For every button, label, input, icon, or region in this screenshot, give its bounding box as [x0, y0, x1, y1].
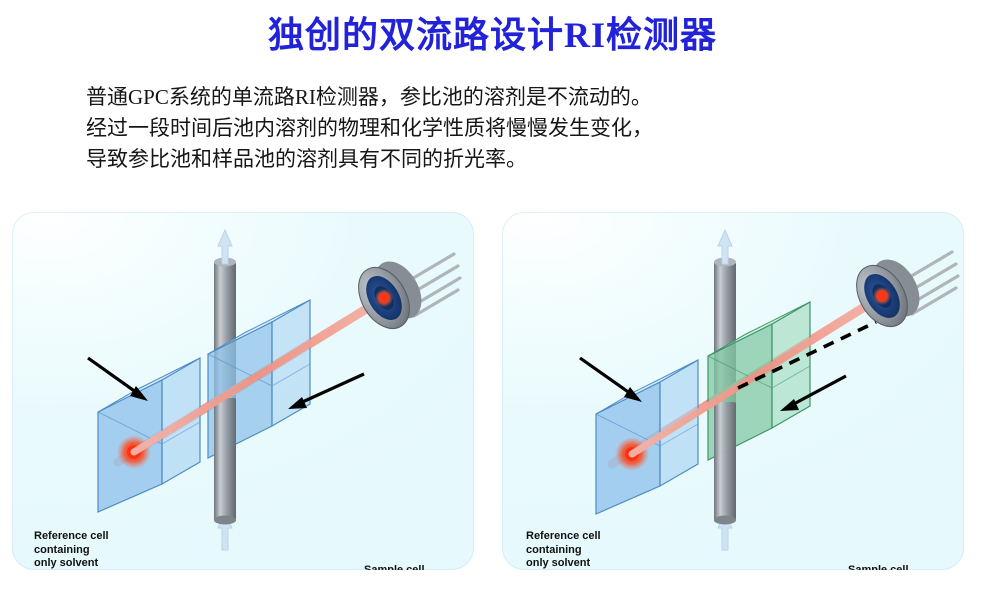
photodetector-right	[846, 251, 958, 335]
reference-cell-left	[98, 358, 200, 512]
body-paragraph: 普通GPC系统的单流路RI检测器，参比池的溶剂是不流动的。 经过一段时间后池内溶…	[86, 82, 926, 175]
label-line: only solvent	[34, 557, 109, 570]
body-line-3: 导致参比池和样品池的溶剂具有不同的折光率。	[86, 144, 926, 175]
body-line-2: 经过一段时间后池内溶剂的物理和化学性质将慢慢发生变化，	[86, 113, 926, 144]
flow-tube-front-right	[714, 402, 736, 525]
label-line: Reference cell	[526, 530, 601, 544]
label-line: Sample cell	[848, 564, 912, 570]
diagram-stage-left	[12, 212, 474, 570]
label-line: only solvent	[526, 557, 601, 570]
diagram-panel-right: Reference cell containing only solvent S…	[502, 212, 964, 570]
optical-diagram-right-svg	[502, 212, 964, 570]
label-line: Sample cell	[364, 564, 428, 570]
optical-diagram-left-svg	[12, 212, 474, 570]
callout-arrow-reference-left	[88, 358, 148, 401]
flow-tube-front-left	[214, 398, 236, 525]
reference-cell-right	[596, 360, 698, 514]
page-title: 独创的双流路设计RI检测器	[0, 6, 985, 58]
label-sample-cell-left: Sample cell containing only solvent	[364, 564, 428, 570]
callout-arrow-reference-right	[580, 358, 642, 402]
diagram-panel-left: Reference cell containing only solvent S…	[12, 212, 474, 570]
label-reference-cell-left: Reference cell containing only solvent	[34, 530, 109, 570]
diagram-stage-right	[502, 212, 964, 570]
label-line: Reference cell	[34, 530, 109, 544]
body-line-1: 普通GPC系统的单流路RI检测器，参比池的溶剂是不流动的。	[86, 82, 926, 113]
photodetector-left	[348, 253, 460, 337]
label-line: containing	[526, 544, 601, 558]
label-line: containing	[34, 544, 109, 558]
label-reference-cell-right: Reference cell containing only solvent	[526, 530, 601, 570]
label-sample-cell-right: Sample cell containing solvent plus anal…	[848, 564, 912, 570]
